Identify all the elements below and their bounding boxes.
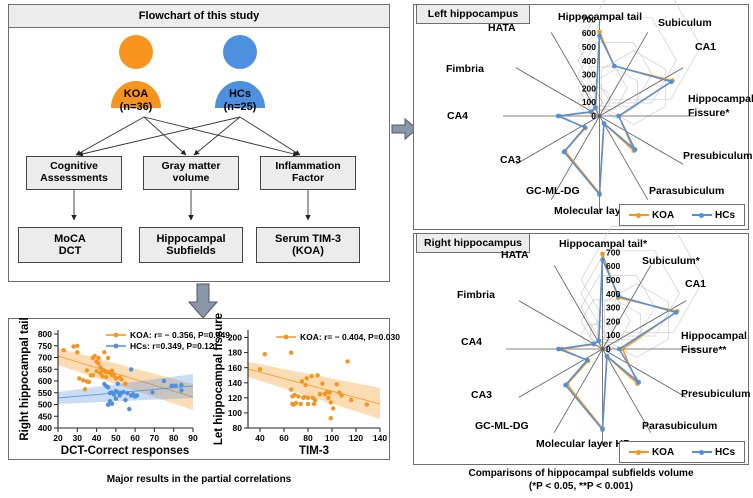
flow-box-hippocampal-subfields: Hippocampal Subfields xyxy=(139,227,243,263)
group-n-koa: (n=36) xyxy=(96,101,176,114)
legend-label-hcs-right: HCs xyxy=(715,447,735,458)
radar-series-koa xyxy=(560,32,673,193)
scatter-plot-tim3: 80100 120140 160180 200 406080 100120140 xyxy=(213,313,400,457)
radar-caption-line1: Comparisons of hippocampal subfields vol… xyxy=(413,468,749,481)
x-axis-label-right: TIM-3 xyxy=(299,445,329,457)
svg-text:GC-ML-DG: GC-ML-DG xyxy=(475,420,529,432)
legend-item-hcs: HCs xyxy=(692,210,735,221)
svg-text:Hippocampal tail: Hippocampal tail xyxy=(558,11,642,23)
flow-box-serum-tim3: Serum TIM-3 (KOA) xyxy=(256,227,360,263)
svg-text:Molecular layer HP: Molecular layer HP xyxy=(536,438,630,450)
legend-item-koa-right: KOA xyxy=(629,447,674,458)
svg-text:40: 40 xyxy=(255,433,265,443)
svg-text:Presubiculum: Presubiculum xyxy=(683,150,752,162)
svg-text:700: 700 xyxy=(38,353,52,363)
scatter-caption: Major results in the partial correlation… xyxy=(8,474,390,487)
radar-caption-line2: (*P < 0.05, **P < 0.001) xyxy=(413,481,749,494)
svg-text:600: 600 xyxy=(582,28,596,38)
flow-box-line: volume xyxy=(173,173,210,185)
legend-line-hcs-right xyxy=(692,451,712,453)
svg-text:200: 200 xyxy=(228,333,242,343)
flow-box-line: DCT xyxy=(59,245,82,257)
svg-text:600: 600 xyxy=(38,376,52,386)
svg-text:180: 180 xyxy=(228,348,242,358)
flow-box-gray-matter-volume: Gray matter volume xyxy=(143,156,239,190)
group-label-hcs: HCs (n=25) xyxy=(200,88,280,113)
y-axis-label-left: Right hippocampal tail xyxy=(19,317,31,440)
svg-text:140: 140 xyxy=(228,378,242,388)
svg-text:CA1: CA1 xyxy=(685,278,706,290)
radar-points-koa xyxy=(557,30,675,196)
svg-text:120: 120 xyxy=(349,433,363,443)
svg-text:100: 100 xyxy=(582,97,596,107)
scatter-legend-tim3: KOA: r= − 0.404, P=0.030 xyxy=(276,332,400,342)
svg-text:0: 0 xyxy=(591,111,596,121)
radar-points-hcs xyxy=(556,33,674,197)
legend-line-koa xyxy=(629,214,649,216)
legend-line-koa-right xyxy=(629,451,649,453)
svg-text:400: 400 xyxy=(38,423,52,433)
svg-text:200: 200 xyxy=(582,83,596,93)
scatter-plot-dct: 400450 500550 600650 700750 800 203040 5… xyxy=(19,317,230,457)
flowchart-title: Flowchart of this study xyxy=(139,10,259,22)
svg-text:50: 50 xyxy=(111,433,121,443)
svg-text:160: 160 xyxy=(228,363,242,373)
flow-box-line: Assessments xyxy=(40,173,108,185)
svg-text:300: 300 xyxy=(606,303,620,313)
svg-text:Hippocampal tail*: Hippocampal tail* xyxy=(559,238,648,250)
radar-chart-left: 0100 200300 400500 600700 Hippocampal ta… xyxy=(413,4,749,230)
svg-text:550: 550 xyxy=(38,388,52,398)
legend-label-koa: KOA xyxy=(652,210,674,221)
legend-text-hcs: HCs: r=0.349, P=0.121 xyxy=(130,341,219,351)
radar-series-hcs xyxy=(558,36,671,195)
flow-box-line: Serum TIM-3 xyxy=(275,233,341,245)
svg-text:30: 30 xyxy=(73,433,83,443)
flow-box-moca-dct: MoCA DCT xyxy=(18,227,122,263)
svg-text:60: 60 xyxy=(279,433,289,443)
svg-text:Fimbria: Fimbria xyxy=(446,63,484,75)
svg-text:60: 60 xyxy=(130,433,140,443)
svg-text:HATA: HATA xyxy=(488,22,516,34)
svg-text:650: 650 xyxy=(38,364,52,374)
legend-label-koa-right: KOA xyxy=(652,447,674,458)
svg-text:Subiculum: Subiculum xyxy=(658,17,712,29)
y-axis-label-right: Let hippocampal fissure xyxy=(213,313,225,445)
svg-text:80: 80 xyxy=(169,433,179,443)
svg-text:Fissure**: Fissure** xyxy=(681,344,727,356)
radar-chart-right: 0100 200300 400500 600700 Hippocampal ta… xyxy=(413,233,749,465)
svg-text:GC-ML-DG: GC-ML-DG xyxy=(526,185,580,197)
svg-text:300: 300 xyxy=(582,70,596,80)
radar-legend-right: KOA HCs xyxy=(619,441,745,463)
svg-text:500: 500 xyxy=(606,275,620,285)
svg-text:Hippocampal: Hippocampal xyxy=(688,93,753,105)
svg-text:Subiculum*: Subiculum* xyxy=(642,255,701,267)
svg-text:800: 800 xyxy=(38,329,52,339)
group-name-hcs: HCs xyxy=(200,88,280,101)
svg-text:200: 200 xyxy=(606,316,620,326)
svg-text:450: 450 xyxy=(38,411,52,421)
svg-text:80: 80 xyxy=(303,433,313,443)
svg-text:400: 400 xyxy=(582,56,596,66)
svg-text:70: 70 xyxy=(150,433,160,443)
radar-caption: Comparisons of hippocampal subfields vol… xyxy=(413,468,749,493)
svg-text:80: 80 xyxy=(233,423,243,433)
legend-label-hcs: HCs xyxy=(715,210,735,221)
svg-text:500: 500 xyxy=(582,42,596,52)
svg-text:Presubiculum: Presubiculum xyxy=(681,388,750,400)
legend-text-koa-tim3: KOA: r= − 0.404, P=0.030 xyxy=(300,332,400,342)
legend-item-hcs-right: HCs xyxy=(692,447,735,458)
legend-item-koa: KOA xyxy=(629,210,674,221)
flowchart-title-bar: Flowchart of this study xyxy=(8,4,390,28)
svg-text:500: 500 xyxy=(38,400,52,410)
flow-box-line: MoCA xyxy=(54,233,86,245)
svg-text:100: 100 xyxy=(606,330,620,340)
flow-box-cognitive-assessments: Cognitive Assessments xyxy=(26,156,122,190)
scatter-plots: 400450 500550 600650 700750 800 203040 5… xyxy=(8,318,390,460)
flow-box-line: Factor xyxy=(292,173,324,185)
svg-text:CA1: CA1 xyxy=(695,41,716,53)
flow-box-inflammation-factor: Inflammation Factor xyxy=(260,156,356,190)
x-axis-label-left: DCT-Correct responses xyxy=(61,445,189,457)
svg-text:CA4: CA4 xyxy=(447,110,468,122)
svg-text:0: 0 xyxy=(606,344,611,354)
flow-box-line: Subfields xyxy=(166,245,216,257)
flowchart-arrows-mid xyxy=(8,190,390,228)
group-label-koa: KOA (n=36) xyxy=(96,88,176,113)
svg-text:Hippocampal: Hippocampal xyxy=(681,330,747,342)
svg-text:CA3: CA3 xyxy=(471,389,492,401)
svg-text:CA3: CA3 xyxy=(500,154,521,166)
group-name-koa: KOA xyxy=(96,88,176,101)
svg-text:400: 400 xyxy=(606,289,620,299)
svg-text:CA4: CA4 xyxy=(461,336,482,348)
svg-text:140: 140 xyxy=(373,433,387,443)
svg-text:Fissure*: Fissure* xyxy=(688,107,730,119)
svg-text:Parasubiculum: Parasubiculum xyxy=(642,420,717,432)
svg-text:40: 40 xyxy=(92,433,102,443)
svg-text:100: 100 xyxy=(325,433,339,443)
flow-box-line: (KOA) xyxy=(292,245,324,257)
svg-text:20: 20 xyxy=(53,433,63,443)
svg-text:Parasubiculum: Parasubiculum xyxy=(649,185,724,197)
svg-text:600: 600 xyxy=(606,261,620,271)
flow-box-line: Hippocampal xyxy=(156,233,225,245)
radar-rticks-left: 0100 200300 400500 600700 xyxy=(582,14,596,121)
svg-text:90: 90 xyxy=(188,433,198,443)
svg-text:100: 100 xyxy=(228,408,242,418)
group-n-hcs: (n=25) xyxy=(200,101,280,114)
legend-line-hcs xyxy=(692,214,712,216)
svg-text:750: 750 xyxy=(38,341,52,351)
svg-text:Fimbria: Fimbria xyxy=(457,289,495,301)
radar-legend-left: KOA HCs xyxy=(619,204,745,226)
scatter-legend-dct: KOA: r= − 0.356, P=0.049 HCs: r=0.349, P… xyxy=(106,330,230,351)
svg-text:HATA: HATA xyxy=(501,249,529,261)
svg-text:120: 120 xyxy=(228,393,242,403)
